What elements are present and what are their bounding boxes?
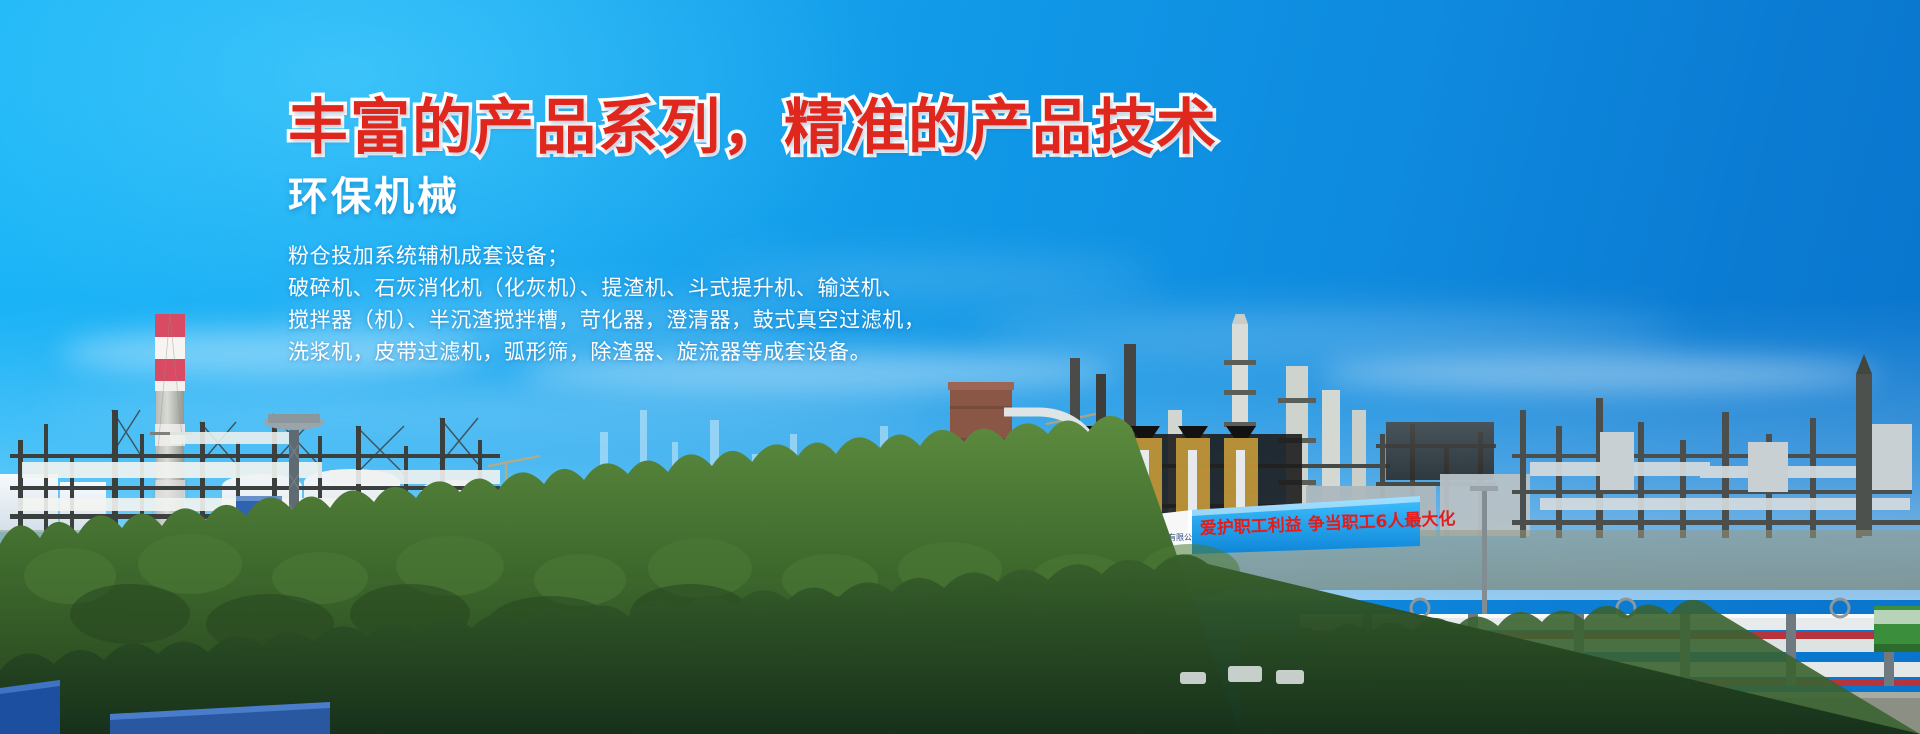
hero-banner: 石化工程有限公司 爱护职工利益 争当职工6人最大化 xyxy=(0,0,1920,734)
banner-subtitle: 环保机械 xyxy=(288,175,1288,219)
banner-copy: 丰富的产品系列，精准的产品技术 环保机械 粉仓投加系统辅机成套设备； 破碎机、石… xyxy=(288,96,1288,368)
description-line-4: 洗浆机，皮带过滤机，弧形筛，除渣器、旋流器等成套设备。 xyxy=(288,337,1288,369)
banner-headline: 丰富的产品系列，精准的产品技术 xyxy=(288,96,1288,161)
banner-description: 粉仓投加系统辅机成套设备； 破碎机、石灰消化机（化灰机）、提渣机、斗式提升机、输… xyxy=(288,241,1288,369)
green-bus xyxy=(1874,606,1920,652)
description-line-1: 粉仓投加系统辅机成套设备； xyxy=(288,241,1288,273)
right-complex xyxy=(1512,354,1920,538)
description-line-2: 破碎机、石灰消化机（化灰机）、提渣机、斗式提升机、输送机、 xyxy=(288,273,1288,305)
description-line-3: 搅拌器（机）、半沉渣搅拌槽，苛化器，澄清器，鼓式真空过滤机， xyxy=(288,305,1288,337)
industrial-plant-scene: 石化工程有限公司 爱护职工利益 争当职工6人最大化 xyxy=(0,314,1920,734)
